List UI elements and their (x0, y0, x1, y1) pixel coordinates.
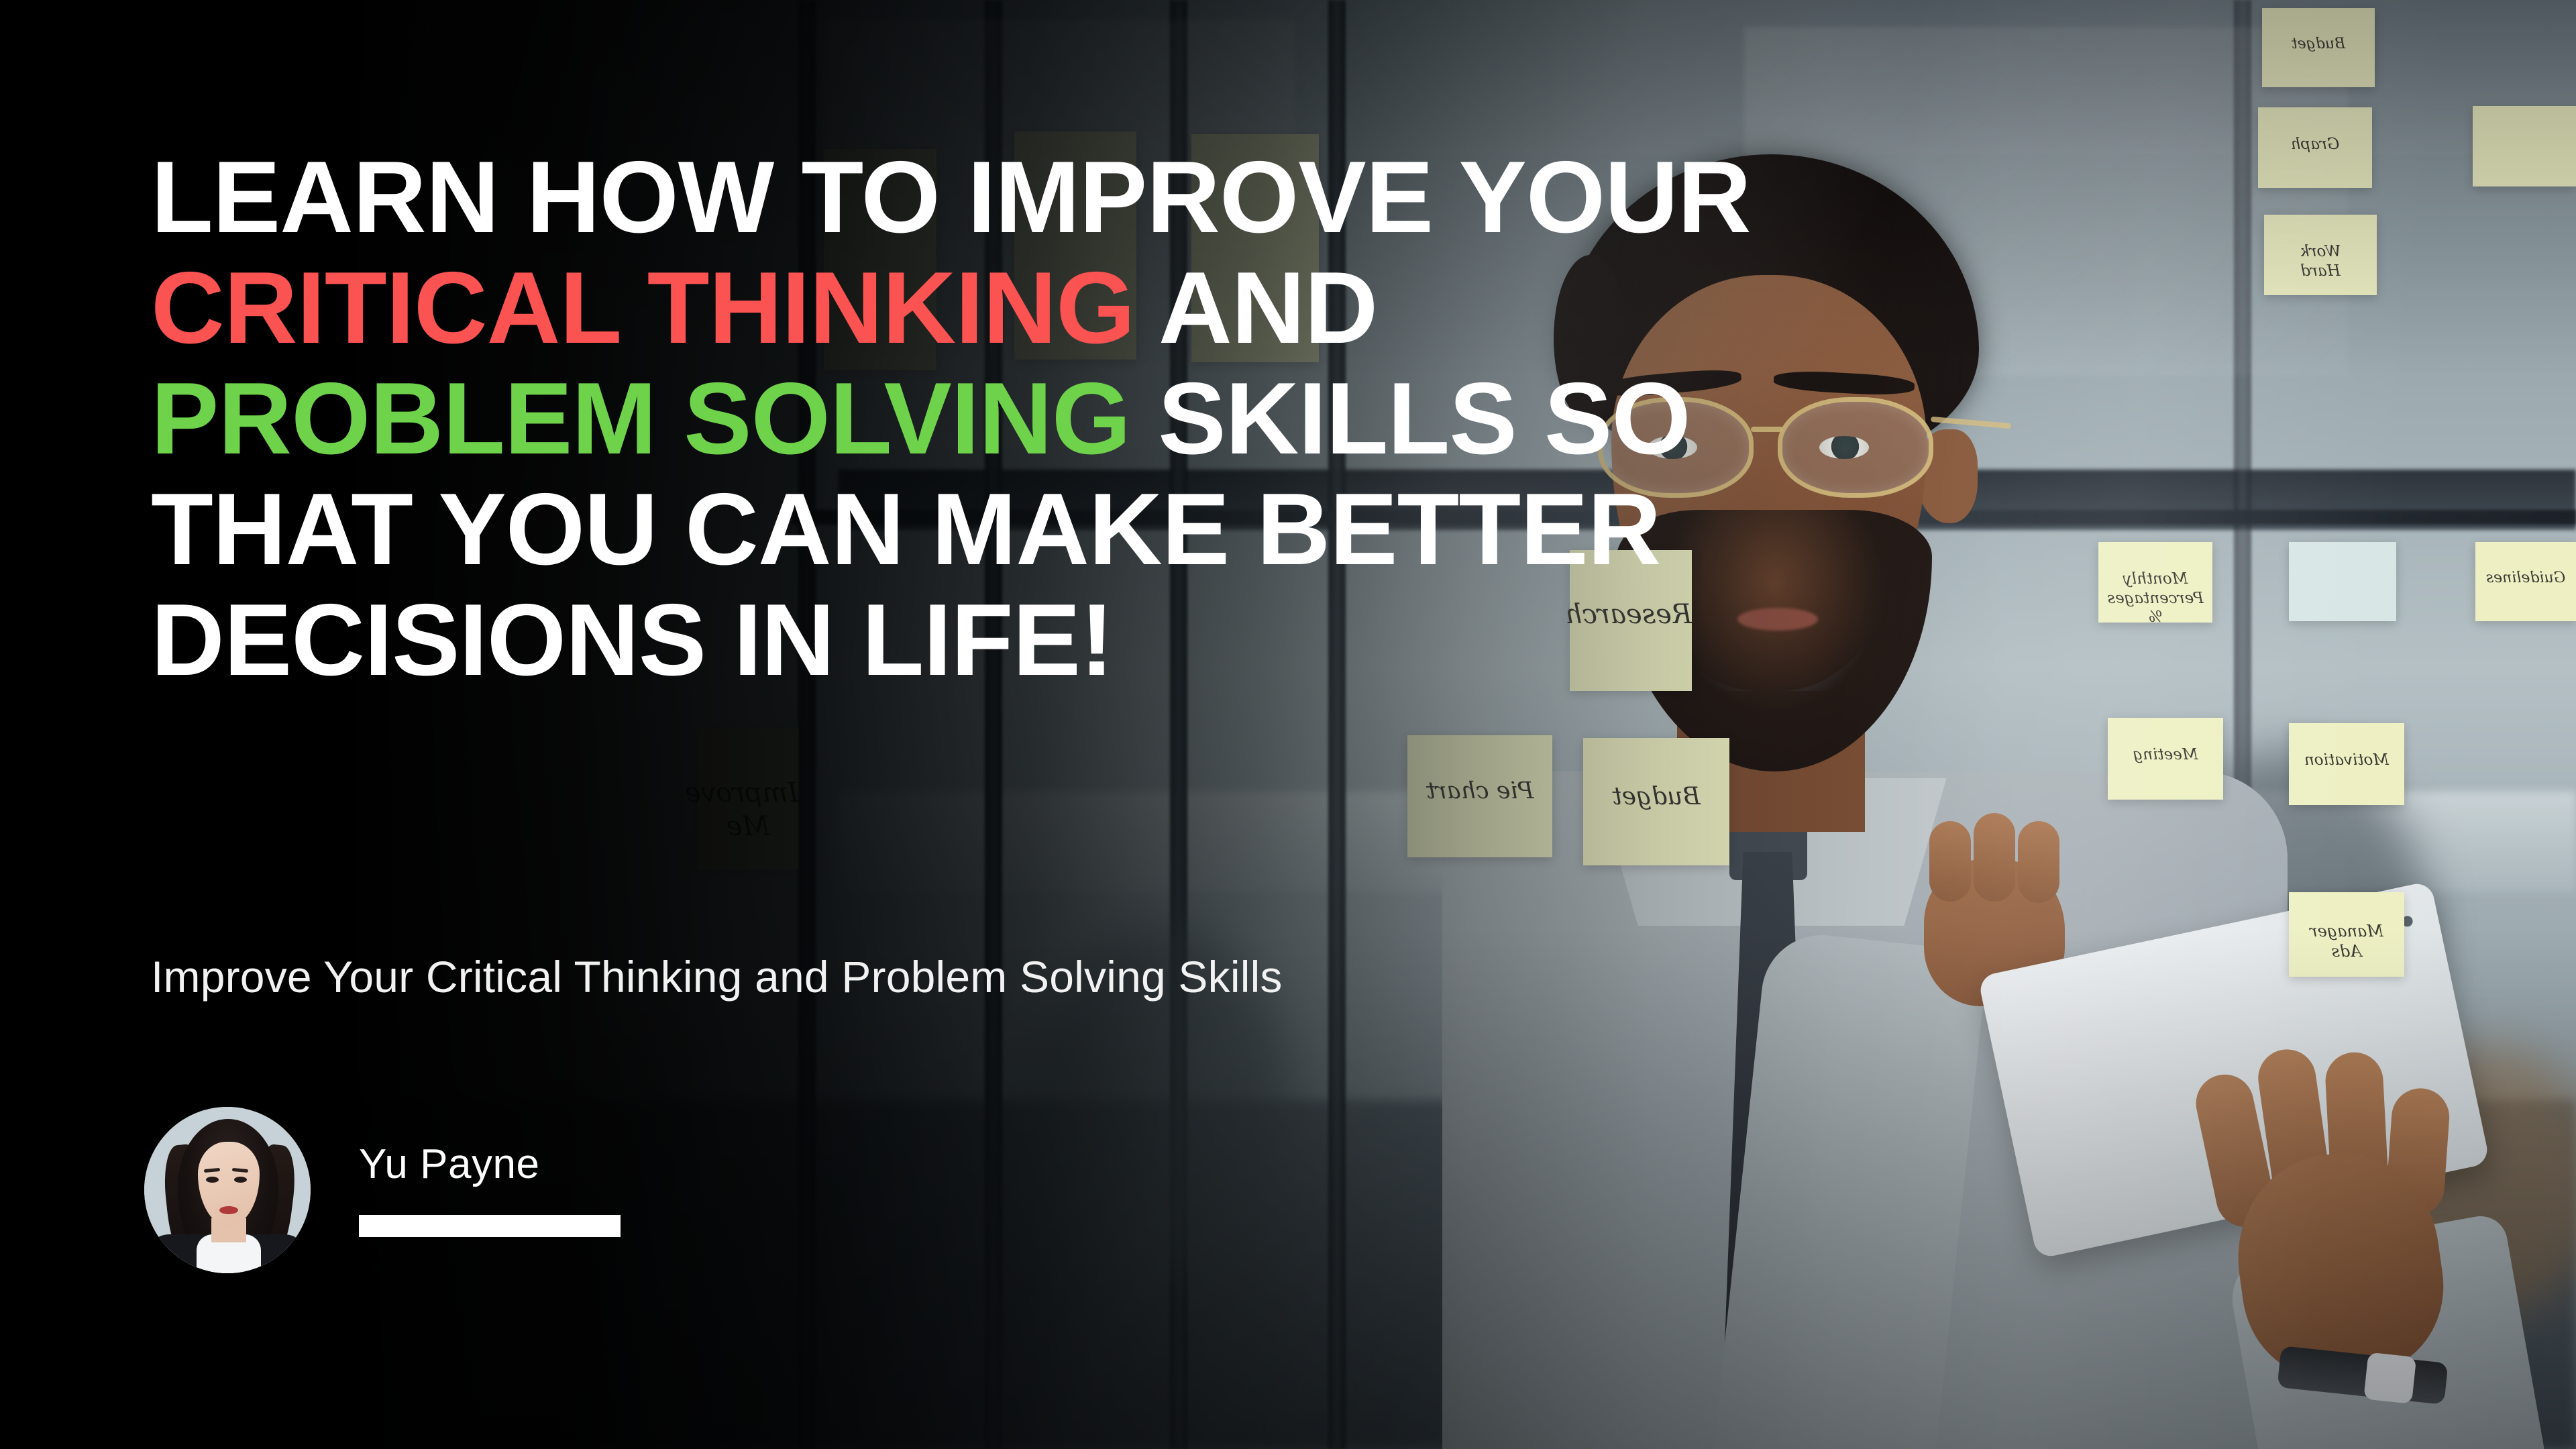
text-content: LEARN HOW TO IMPROVE YOUR CRITICAL THINK… (151, 0, 1895, 1449)
headline-accent-red: CRITICAL THINKING (151, 251, 1134, 365)
avatar (144, 1107, 311, 1273)
subtitle: Improve Your Critical Thinking and Probl… (151, 951, 1283, 1002)
banner-canvas: BudgetGraphWork HardMonthly Percentages … (0, 0, 2576, 1449)
avatar-lips (219, 1206, 238, 1214)
byline: Yu Payne (144, 1107, 621, 1273)
headline-line-2-rest: AND (1134, 251, 1377, 365)
headline-line-1: LEARN HOW TO IMPROVE YOUR (151, 142, 1828, 253)
author-underline-rule (359, 1215, 621, 1237)
byline-text: Yu Payne (359, 1144, 621, 1237)
headline-line-3: PROBLEM SOLVING SKILLS SO (151, 364, 1828, 474)
headline-line-2: CRITICAL THINKING AND (151, 253, 1828, 364)
page-title: LEARN HOW TO IMPROVE YOUR CRITICAL THINK… (151, 142, 1828, 696)
headline-line-5: DECISIONS IN LIFE! (151, 585, 1828, 696)
headline-accent-green: PROBLEM SOLVING (151, 362, 1130, 476)
avatar-eye-right (234, 1177, 247, 1183)
author-name: Yu Payne (359, 1144, 621, 1185)
avatar-eye-left (206, 1177, 219, 1183)
headline-line-3-rest: SKILLS SO (1130, 362, 1690, 476)
headline-line-4: THAT YOU CAN MAKE BETTER (151, 474, 1828, 585)
